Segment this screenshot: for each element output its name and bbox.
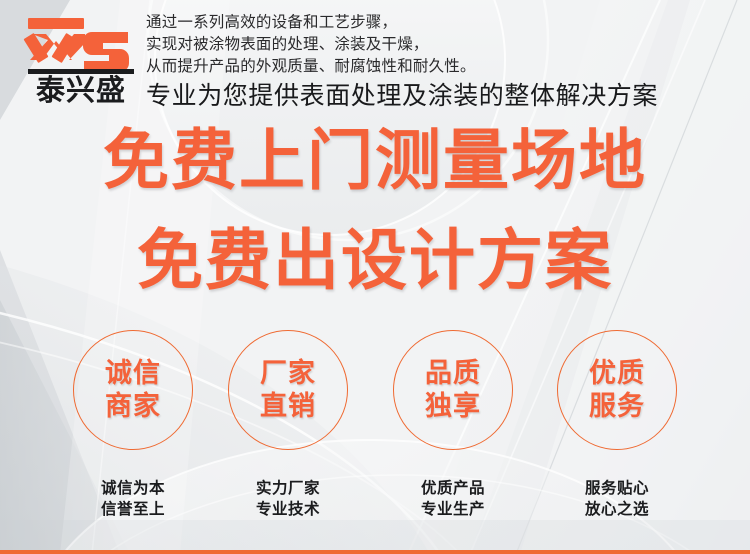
badge-service[interactable]: 优质 服务: [557, 330, 677, 450]
caption-1-line-1: 诚信为本: [58, 478, 208, 499]
promo-banner: 泰兴盛 通过一系列高效的设备和工艺步骤， 实现对被涂物表面的处理、涂装及干燥， …: [0, 0, 750, 554]
badge-captions: 诚信为本 信誉至上 实力厂家 专业技术 优质产品 专业生产 服务贴心 放心之选: [0, 478, 750, 528]
badge-1-top: 诚信: [105, 357, 161, 390]
badge-1-bottom: 商家: [105, 390, 161, 423]
badge-3-bottom: 独享: [425, 390, 481, 423]
badge-quality[interactable]: 品质 独享: [393, 330, 513, 450]
header-description: 通过一系列高效的设备和工艺步骤， 实现对被涂物表面的处理、涂装及干燥， 从而提升…: [146, 12, 726, 78]
headline-line-1: 免费上门测量场地: [0, 124, 750, 196]
caption-4-line-1: 服务贴心: [542, 478, 692, 499]
caption-factory-direct: 实力厂家 专业技术: [213, 478, 363, 520]
header-line-1: 通过一系列高效的设备和工艺步骤，: [146, 12, 726, 34]
caption-2-line-2: 专业技术: [213, 499, 363, 520]
badge-integrity[interactable]: 诚信 商家: [73, 330, 193, 450]
badge-2-top: 厂家: [260, 357, 316, 390]
headline-line-2: 免费出设计方案: [0, 224, 750, 296]
logo-divider: [28, 69, 134, 74]
badge-4-bottom: 服务: [589, 390, 645, 423]
caption-1-line-2: 信誉至上: [58, 499, 208, 520]
badge-4-top: 优质: [589, 357, 645, 390]
bottom-accent-bar: [0, 550, 750, 554]
caption-integrity: 诚信为本 信誉至上: [58, 478, 208, 520]
header-slogan: 专业为您提供表面处理及涂装的整体解决方案: [146, 80, 658, 112]
header-line-2: 实现对被涂物表面的处理、涂装及干燥，: [146, 34, 726, 56]
caption-2-line-1: 实力厂家: [213, 478, 363, 499]
header-line-3: 从而提升产品的外观质量、耐腐蚀性和耐久性。: [146, 56, 726, 78]
badge-2-bottom: 直销: [260, 390, 316, 423]
badge-3-top: 品质: [425, 357, 481, 390]
caption-3-line-2: 专业生产: [378, 499, 528, 520]
caption-3-line-1: 优质产品: [378, 478, 528, 499]
badge-factory-direct[interactable]: 厂家 直销: [228, 330, 348, 450]
brand-logo: 泰兴盛: [22, 12, 140, 108]
caption-quality: 优质产品 专业生产: [378, 478, 528, 520]
logo-mark-icon: [23, 18, 129, 72]
feature-badges: 诚信 商家 厂家 直销 品质 独享 优质 服务: [0, 330, 750, 458]
logo-company-name: 泰兴盛: [36, 74, 126, 107]
caption-service: 服务贴心 放心之选: [542, 478, 692, 520]
caption-4-line-2: 放心之选: [542, 499, 692, 520]
